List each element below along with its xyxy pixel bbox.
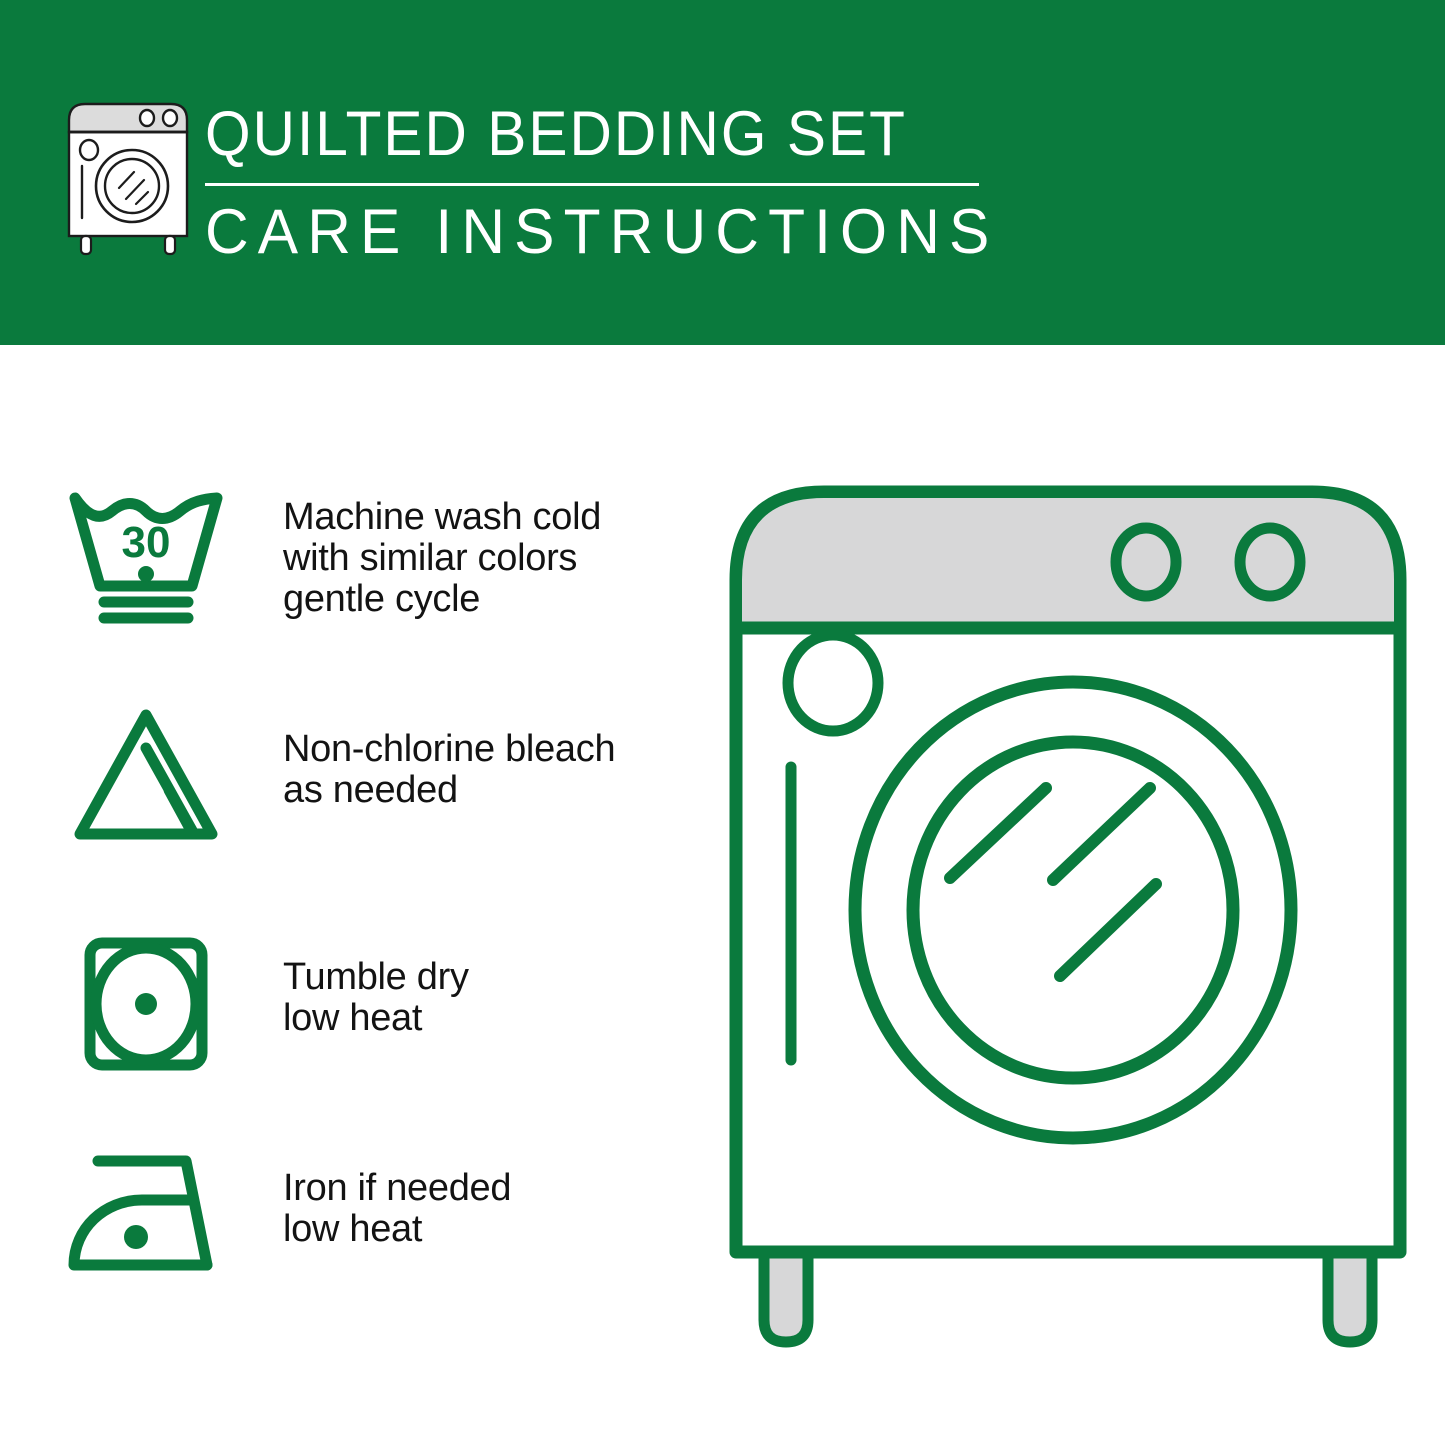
tumble-dry-low-icon — [62, 933, 230, 1075]
iron-low-heat-icon — [62, 1143, 230, 1285]
care-item-label: Iron if needed low heat — [283, 1168, 700, 1250]
washing-machine-icon — [62, 100, 194, 260]
care-item-label: Tumble dry low heat — [283, 957, 700, 1039]
care-instructions-list: 30 Machine wash cold with similar colors… — [0, 345, 700, 1445]
title-divider — [205, 183, 979, 186]
front-load-washing-machine-illustration — [718, 470, 1418, 1370]
machine-leg-left — [764, 1245, 808, 1342]
header-band: QUILTED BEDDING SET CARE INSTRUCTIONS — [0, 0, 1445, 345]
machine-knob-right — [1240, 528, 1300, 596]
wash-tub-30-gentle-icon: 30 — [62, 485, 230, 627]
page-title: QUILTED BEDDING SET — [205, 98, 940, 170]
care-item-iron: Iron if needed low heat — [0, 1143, 700, 1285]
machine-knob-left — [1116, 528, 1176, 596]
machine-door-inner-ring — [913, 742, 1233, 1078]
care-instructions-page: QUILTED BEDDING SET CARE INSTRUCTIONS 30 — [0, 0, 1445, 1445]
machine-leg-right — [1328, 1245, 1372, 1342]
machine-indicator-light — [788, 635, 878, 731]
care-item-tumble-dry: Tumble dry low heat — [0, 933, 700, 1075]
care-item-bleach: Non-chlorine bleach as needed — [0, 705, 700, 847]
care-item-label: Non-chlorine bleach as needed — [283, 729, 700, 811]
page-subtitle: CARE INSTRUCTIONS — [205, 197, 963, 267]
non-chlorine-bleach-triangle-icon — [62, 705, 230, 847]
care-item-label: Machine wash cold with similar colors ge… — [283, 497, 700, 620]
header-text-block: QUILTED BEDDING SET CARE INSTRUCTIONS — [205, 98, 995, 267]
wash-temperature-value: 30 — [122, 518, 171, 567]
care-item-machine-wash: 30 Machine wash cold with similar colors… — [0, 485, 700, 627]
